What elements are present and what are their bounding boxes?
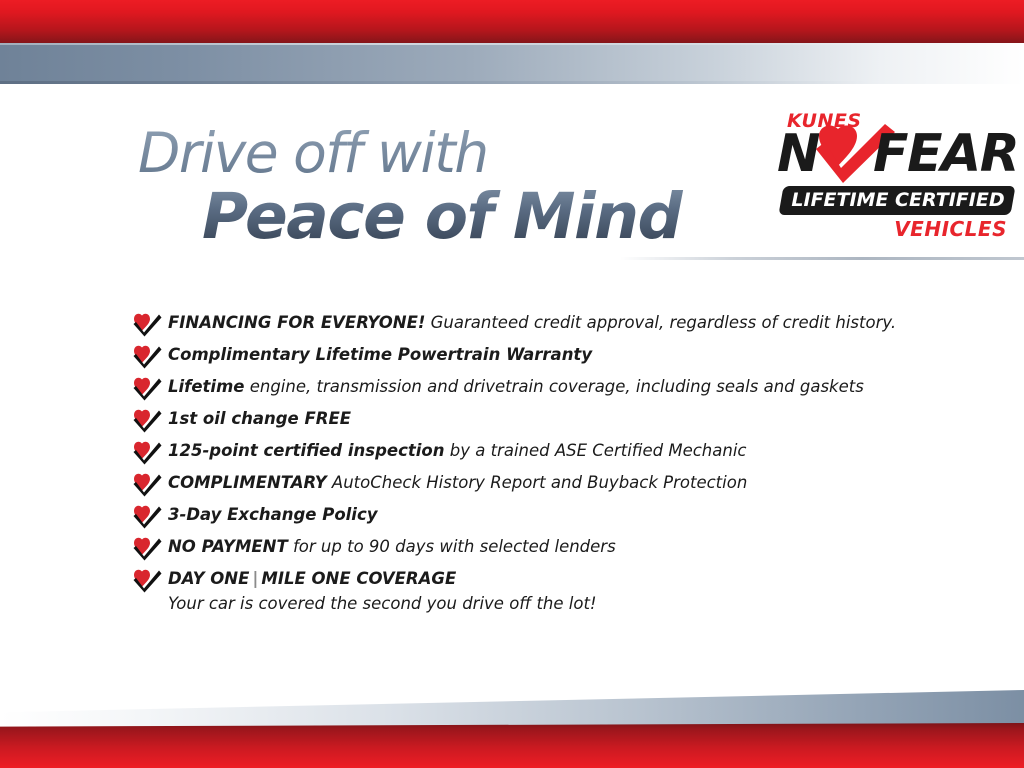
benefits-list: FINANCING FOR EVERYONE! Guaranteed credi…	[132, 308, 932, 618]
top-red-band	[0, 0, 1024, 43]
headline-line-1: Drive off with	[138, 124, 758, 182]
list-item-bold: DAY ONE	[168, 569, 249, 588]
list-item-bold: 3-Day Exchange Policy	[168, 505, 378, 524]
list-item-bold: NO PAYMENT	[168, 537, 288, 556]
promo-page: Drive off with Peace of Mind KUNES N FEA…	[0, 0, 1024, 768]
logo-vehicles-text: VEHICLES	[894, 217, 1007, 241]
top-gray-highlight	[0, 43, 1024, 45]
list-item: DAY ONE|MILE ONE COVERAGE Your car is co…	[132, 564, 932, 618]
list-item-normal: engine, transmission and drivetrain cove…	[244, 377, 863, 396]
list-item: 125-point certified inspection by a trai…	[132, 436, 932, 468]
heart-check-icon	[132, 409, 162, 433]
list-item: NO PAYMENT for up to 90 days with select…	[132, 532, 932, 564]
list-item-normal: for up to 90 days with selected lenders	[288, 537, 616, 556]
heart-check-icon	[132, 569, 162, 593]
list-item-text: 3-Day Exchange Policy	[168, 505, 378, 524]
logo-wordmark: N FEAR	[775, 130, 1015, 184]
list-item-subline: Your car is covered the second you drive…	[168, 592, 932, 616]
headline: Drive off with Peace of Mind	[138, 124, 758, 250]
list-item-bold: 125-point certified inspection	[168, 441, 445, 460]
bottom-red-band	[0, 723, 1024, 768]
list-item-text: DAY ONE|MILE ONE COVERAGE	[168, 569, 456, 588]
heart-check-icon	[132, 377, 162, 401]
list-item-separator: |	[249, 569, 261, 588]
list-item-normal: by a trained ASE Certified Mechanic	[445, 441, 747, 460]
list-item: COMPLIMENTARY AutoCheck History Report a…	[132, 468, 932, 500]
logo-certified-text: LIFETIME CERTIFIED	[783, 188, 1013, 213]
list-item: 3-Day Exchange Policy	[132, 500, 932, 532]
list-item-bold-2: MILE ONE COVERAGE	[261, 569, 456, 588]
heart-check-icon	[132, 473, 162, 497]
top-banner	[0, 0, 1024, 84]
heart-check-icon	[132, 537, 162, 561]
list-item: 1st oil change FREE	[132, 404, 932, 436]
bottom-banner	[0, 690, 1024, 768]
list-item-text: 125-point certified inspection by a trai…	[168, 441, 746, 460]
list-item-text: COMPLIMENTARY AutoCheck History Report a…	[168, 473, 747, 492]
list-item: Lifetime engine, transmission and drivet…	[132, 372, 932, 404]
list-item-text: NO PAYMENT for up to 90 days with select…	[168, 537, 616, 556]
heart-check-icon	[132, 313, 162, 337]
logo-word-fear: FEAR	[873, 128, 1018, 180]
list-item: Complimentary Lifetime Powertrain Warran…	[132, 340, 932, 372]
kunes-no-fear-logo: KUNES N FEAR LIFETIME CERTIFIED VEHICLES	[775, 110, 1015, 242]
list-item-normal: Guaranteed credit approval, regardless o…	[425, 313, 896, 332]
list-item-bold: COMPLIMENTARY	[168, 473, 327, 492]
list-item-bold: 1st oil change FREE	[168, 409, 351, 428]
list-item-bold: FINANCING FOR EVERYONE!	[168, 313, 425, 332]
list-item-text: FINANCING FOR EVERYONE! Guaranteed credi…	[168, 313, 896, 332]
heart-check-icon	[132, 345, 162, 369]
top-gray-shadow	[0, 81, 1024, 84]
list-item-text: Complimentary Lifetime Powertrain Warran…	[168, 345, 592, 364]
list-item-bold: Complimentary Lifetime Powertrain Warran…	[168, 345, 592, 364]
header-divider	[620, 257, 1024, 260]
bottom-gray-band	[0, 690, 1024, 726]
top-gray-band	[0, 43, 1024, 84]
list-item-normal: AutoCheck History Report and Buyback Pro…	[327, 473, 748, 492]
headline-line-2: Peace of Mind	[202, 184, 758, 250]
list-item: FINANCING FOR EVERYONE! Guaranteed credi…	[132, 308, 932, 340]
list-item-text: 1st oil change FREE	[168, 409, 351, 428]
list-item-text: Lifetime engine, transmission and drivet…	[168, 377, 864, 396]
heart-check-icon	[132, 441, 162, 465]
list-item-bold: Lifetime	[168, 377, 244, 396]
heart-check-icon	[132, 505, 162, 529]
